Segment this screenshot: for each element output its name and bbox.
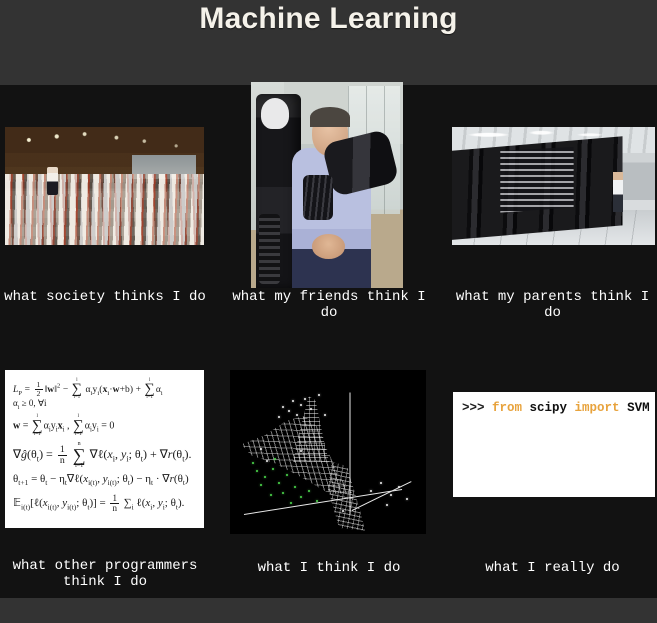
lecture-hall-of-robots-photo [5,127,204,245]
equation-w-expansion: w = l∑i=1αiyixi , l∑i=1αiyi = 0 [13,415,114,438]
plot-axis-x [244,489,402,515]
console-command-line[interactable]: >>> from scipy import SVM [462,401,650,415]
data-point [260,448,262,450]
equation-sgd-update: θt+1 = θt − ηt∇ℓ(xi(t), yi(t); θt) − ηt … [13,472,189,487]
meme-page: Machine Learning what society thinks I d… [0,0,657,623]
data-point [278,482,280,484]
data-point [324,414,326,416]
equation-alpha-constraint: αi ≥ 0, ∀i [13,398,47,411]
data-point [304,398,306,400]
data-point [290,502,292,504]
data-point [294,486,296,488]
page-title: Machine Learning [0,2,657,36]
man-with-robot-arm-photo [251,82,403,288]
data-point [300,496,302,498]
data-point [256,470,258,472]
robot-hand [303,175,333,220]
caption-parents: what my parents think I do [448,289,657,321]
server-room-technician [613,172,622,212]
console-prompt: >>> [462,401,492,415]
module-name: scipy [522,401,575,415]
data-point [390,494,392,496]
svm-math-equations: LP = 12‖w‖2 − l∑i=1 αiyi(xi·w+b) + l∑i=1… [5,370,204,528]
data-point [288,410,290,412]
data-point [318,394,320,396]
footer-band [0,598,657,623]
caption-friends: what my friends think I do [224,289,434,321]
data-point [398,486,400,488]
equation-expectation: 𝔼i(t)[ℓ(xi(t), yi(t); θt)] = 1n ∑i ℓ(xi,… [13,494,184,513]
supercomputer-server-room-photo [452,127,655,245]
data-point [260,484,262,486]
caption-i-really-do: what I really do [448,560,657,576]
data-point [310,408,312,410]
python-console: >>> from scipy import SVM [453,392,655,497]
man-hair [310,107,350,128]
data-point [286,474,288,476]
caption-other-programmers: what other programmers think I do [0,558,210,590]
hall-standing-person [47,167,58,195]
data-point [278,416,280,418]
data-point [370,490,372,492]
svm-3d-decision-surface-plot [230,370,426,534]
data-point [266,460,268,462]
data-point [406,498,408,500]
data-point [316,500,318,502]
data-point [272,468,274,470]
imported-symbol: SVM [620,401,650,415]
data-point [386,504,388,506]
data-point [282,406,284,408]
caption-i-think: what I think I do [224,560,434,576]
data-point [296,414,298,416]
data-point [308,490,310,492]
server-racks [452,134,623,240]
data-point [264,476,266,478]
data-point [282,492,284,494]
caption-society: what society thinks I do [0,289,210,305]
data-point [274,458,276,460]
data-point [270,494,272,496]
keyword-import: import [575,401,620,415]
data-point [252,462,254,464]
data-point [380,482,382,484]
equation-gradient-objective: ∇ĝ(θt) = 1n n∑i=1 ∇ℓ(xi, yi; θt) + ∇r(θt… [13,442,191,469]
keyword-from: from [492,401,522,415]
data-point [292,400,294,402]
hall-robot-rows [5,174,204,245]
data-point [300,450,302,452]
data-point [342,510,344,512]
data-point [300,404,302,406]
